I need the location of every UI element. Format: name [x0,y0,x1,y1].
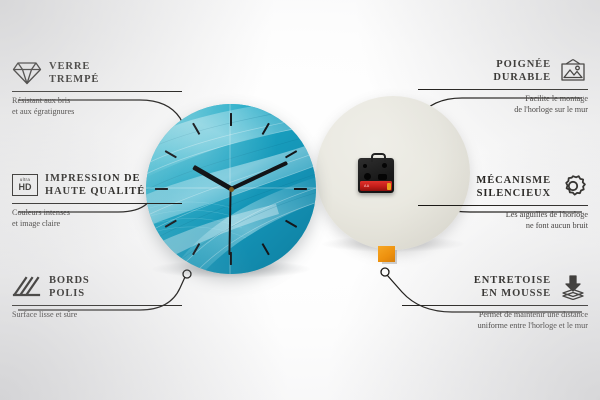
movement-panel-icon [378,174,387,180]
feature-subtitle: Les aiguilles de l'horloge ne font aucun… [418,209,588,232]
leader-node-entretoise [381,268,389,276]
movement-screw-icon [363,164,367,168]
movement-hanger-tab [371,153,386,162]
arrow-down-layers-icon [558,274,588,300]
feature-title: BORDS POLIS [49,274,90,301]
divider [402,305,588,306]
feature-poignee-durable[interactable]: POIGNÉE DURABLE Facilite le montage de l… [418,56,588,116]
feature-title: VERRE TREMPÉ [49,60,99,87]
feature-title: IMPRESSION DE HAUTE QUALITÉ [45,172,145,199]
divider [12,203,182,204]
divider [418,89,588,90]
feature-title: MÉCANISME SILENCIEUX [476,174,551,201]
feature-impression-haute-qualite[interactable]: ultra HD IMPRESSION DE HAUTE QUALITÉ Cou… [12,170,182,230]
feature-mecanisme-silencieux[interactable]: MÉCANISME SILENCIEUX Les aiguilles de l'… [418,172,588,232]
picture-frame-icon [558,58,588,84]
gear-icon [558,174,588,200]
hands-center-cap [229,187,234,192]
ultra-hd-badge-icon: ultra HD [12,174,38,196]
feature-subtitle: Surface lisse et sûre [12,309,182,320]
clock-movement: AA [358,158,394,193]
feature-entretoise-en-mousse[interactable]: ENTRETOISE EN MOUSSE Permet de maintenir… [402,272,588,332]
hour-tick [294,188,307,190]
feature-subtitle: Couleurs intenses et image claire [12,207,182,230]
battery: AA [360,181,392,191]
hour-tick [230,113,232,126]
battery-label: AA [364,184,369,188]
divider [12,91,182,92]
feature-subtitle: Résistant aux bris et aux égratignures [12,95,182,118]
battery-terminal-icon [387,183,391,190]
foam-spacer [378,246,395,262]
divider [12,305,182,306]
feature-title: ENTRETOISE EN MOUSSE [474,274,551,301]
divider [418,205,588,206]
ultra-hd-main-label: HD [19,183,32,192]
feature-subtitle: Permet de maintenir une distance uniform… [402,309,588,332]
diamond-icon [12,60,42,86]
movement-knob-icon [364,173,371,180]
feature-verre-trempe[interactable]: VERRE TREMPÉ Résistant aux bris et aux é… [12,58,182,118]
feature-subtitle: Facilite le montage de l'horloge sur le … [418,93,588,116]
product-infographic: AA [0,0,600,400]
diagonal-lines-icon [12,274,42,300]
movement-screw-icon [382,163,387,168]
feature-bords-polis[interactable]: BORDS POLIS Surface lisse et sûre [12,272,182,320]
feature-title: POIGNÉE DURABLE [493,58,551,85]
